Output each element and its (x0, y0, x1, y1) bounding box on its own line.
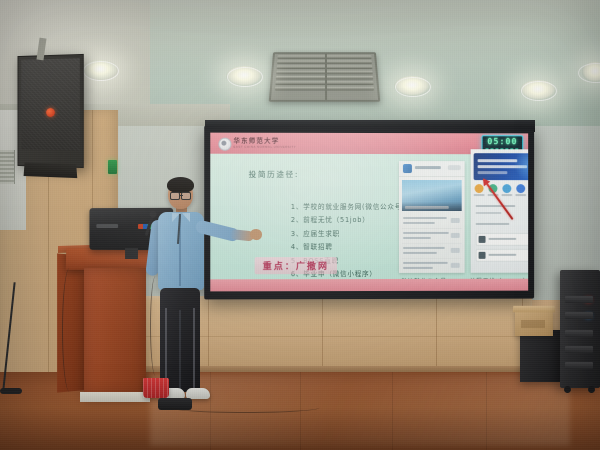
lecture-hall-photo: 华东师范大学 EAST CHINA NORMAL UNIVERSITY 05:0… (0, 0, 600, 450)
exit-sign-icon (108, 160, 117, 174)
timer-value: 05:00 (483, 137, 523, 147)
projection-screen[interactable]: 华东师范大学 EAST CHINA NORMAL UNIVERSITY 05:0… (204, 126, 534, 300)
app-icon (516, 184, 525, 193)
floor-cable (170, 402, 320, 413)
university-name-english: EAST CHINA NORMAL UNIVERSITY (233, 145, 296, 149)
presenter-legs (160, 288, 200, 392)
box-tape (521, 320, 545, 328)
wall-cable (62, 268, 77, 392)
university-seal-logo (218, 138, 231, 151)
lectern-base (80, 392, 150, 402)
app-icon (502, 184, 511, 193)
cardboard-box (515, 310, 553, 336)
presenter-hair (167, 177, 194, 193)
university-name: 华东师范大学 (233, 136, 279, 145)
av-equipment-rack[interactable] (560, 270, 600, 388)
follow-button-mock (448, 165, 461, 170)
box-flap (513, 306, 556, 312)
slide-highlight-text: 重点：广撒网 (255, 257, 337, 274)
slide-footer-band (210, 279, 528, 292)
downlight-icon (520, 80, 556, 100)
vent-divider (325, 54, 327, 100)
red-plastic-basket (143, 378, 169, 398)
lectern-cable (150, 276, 161, 376)
speaker-grille (21, 58, 79, 151)
wall-speaker (17, 54, 83, 168)
presentation-slide: 华东师范大学 EAST CHINA NORMAL UNIVERSITY 05:0… (210, 133, 528, 292)
speaker-bottom (24, 162, 78, 178)
wall-vent-icon (0, 150, 15, 184)
presenter-head (168, 180, 193, 209)
downlight-icon (226, 66, 262, 86)
job-card (476, 249, 529, 262)
downlight-icon (582, 62, 600, 82)
job-card (476, 233, 529, 246)
monitor-brand-logo (96, 224, 118, 228)
job-app-home-screenshot (471, 149, 529, 273)
monitor-stand (125, 248, 138, 259)
slide-title: 投简历途径: (249, 169, 299, 180)
microphone-stand-base (0, 388, 22, 394)
wechat-official-account-screenshot (399, 161, 465, 273)
speaker-badge-icon (46, 108, 55, 117)
account-avatar-icon (403, 164, 412, 173)
downlight-icon (82, 60, 118, 80)
app-icon (475, 184, 484, 193)
article-hero-image (402, 180, 462, 211)
floor-subwoofer (520, 330, 560, 382)
app-banner (474, 153, 529, 180)
downlight-icon (394, 76, 430, 96)
lectern-column (84, 268, 146, 396)
eyeglasses-icon (170, 192, 191, 198)
ceiling-air-vent-icon (269, 52, 381, 102)
